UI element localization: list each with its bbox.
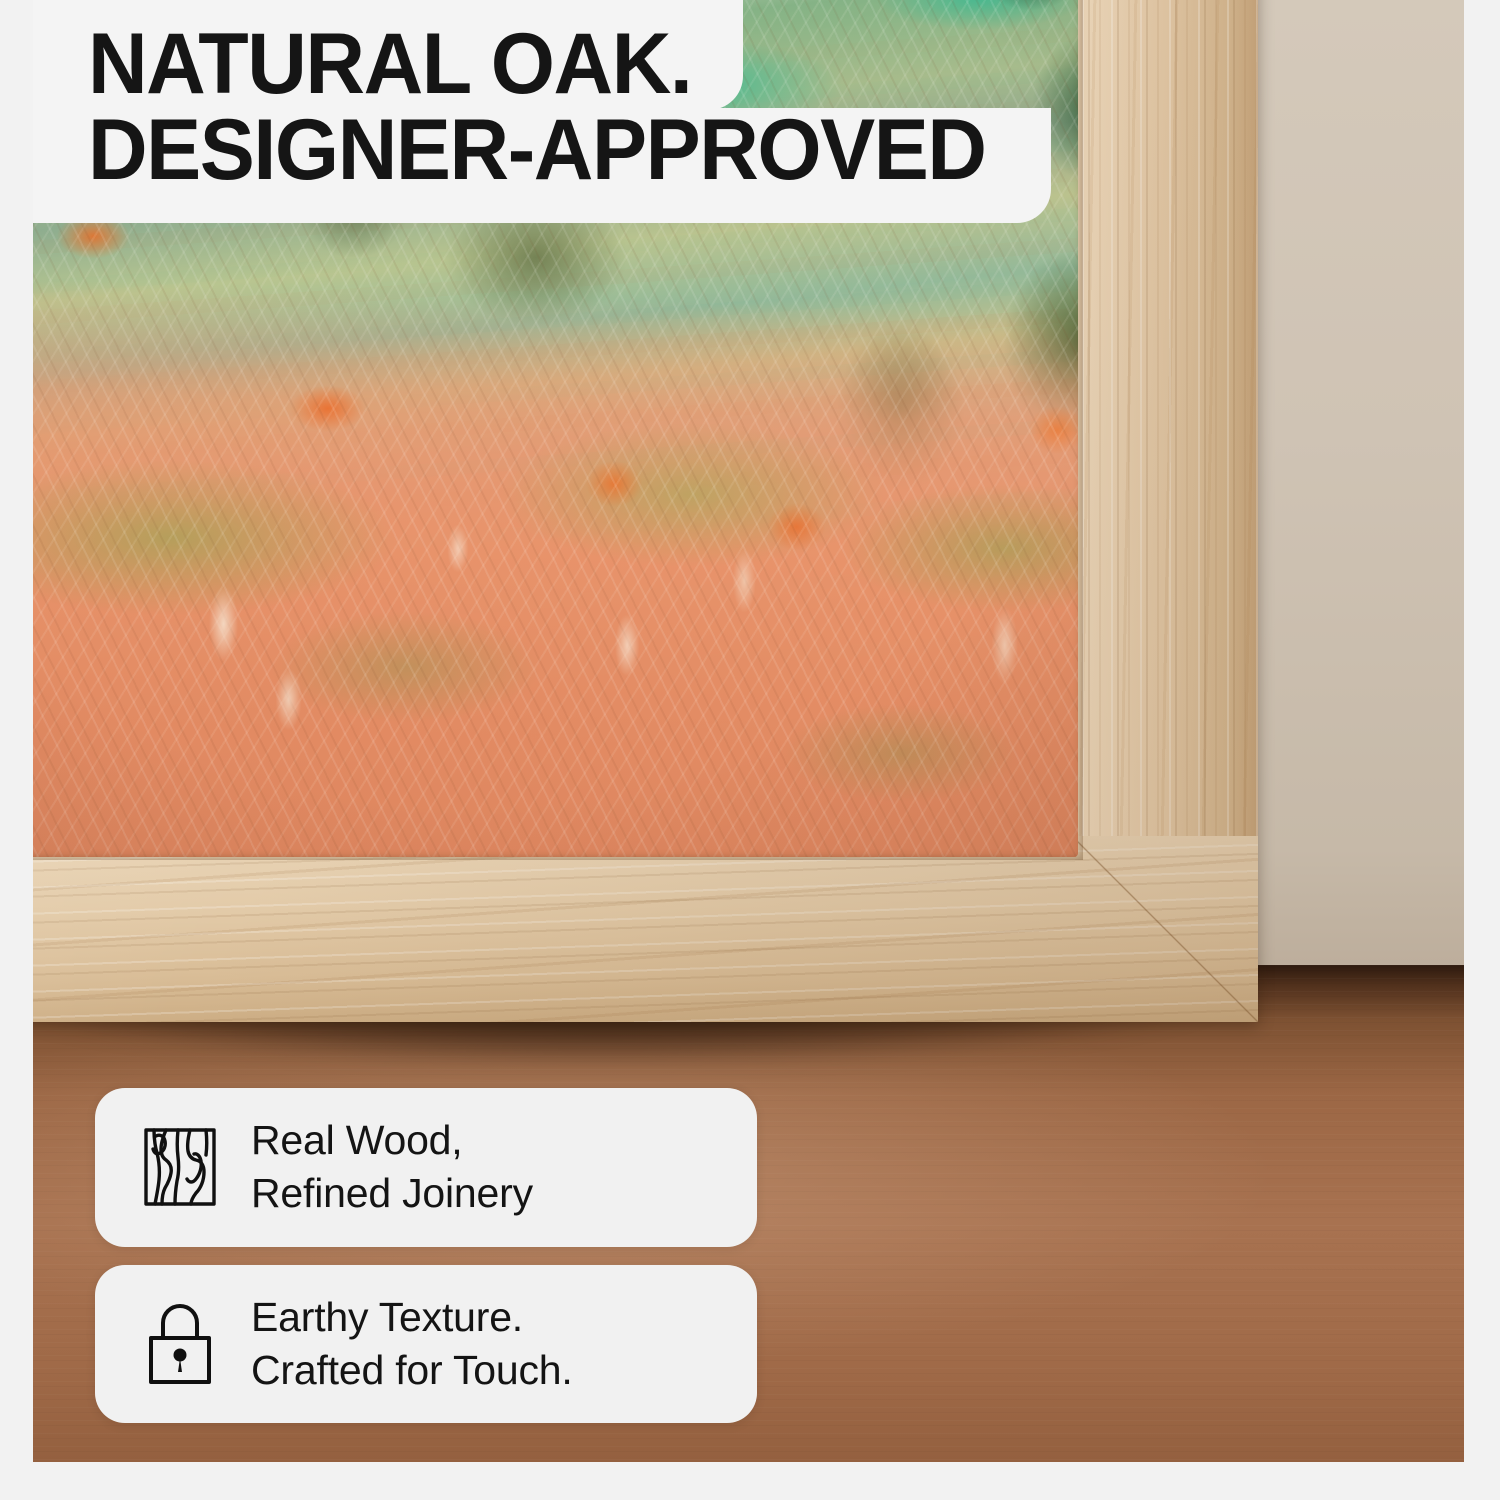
feature-line-1: Real Wood, [251, 1114, 533, 1167]
feature-badge-earthy-texture-text: Earthy Texture. Crafted for Touch. [251, 1291, 573, 1398]
feature-badge-real-wood: Real Wood, Refined Joinery [95, 1088, 757, 1247]
feature-line-1: Earthy Texture. [251, 1291, 573, 1344]
product-photo-scene: NATURAL OAK. DESIGNER-APPROVED [33, 0, 1464, 1462]
feature-line-2: Crafted for Touch. [251, 1344, 573, 1397]
feature-badge-earthy-texture: Earthy Texture. Crafted for Touch. [95, 1265, 757, 1424]
oak-frame [33, 0, 1258, 1022]
feature-line-2: Refined Joinery [251, 1167, 533, 1220]
product-marketing-image: NATURAL OAK. DESIGNER-APPROVED [0, 0, 1500, 1500]
feature-badge-list: Real Wood, Refined Joinery Earthy Textur… [95, 1088, 757, 1423]
painting-brushwork [33, 0, 1078, 857]
painting-canvas [33, 0, 1078, 857]
wood-grain-icon [139, 1126, 221, 1208]
framed-artwork [33, 0, 1265, 1060]
feature-badge-real-wood-text: Real Wood, Refined Joinery [251, 1114, 533, 1221]
padlock-icon [139, 1303, 221, 1385]
